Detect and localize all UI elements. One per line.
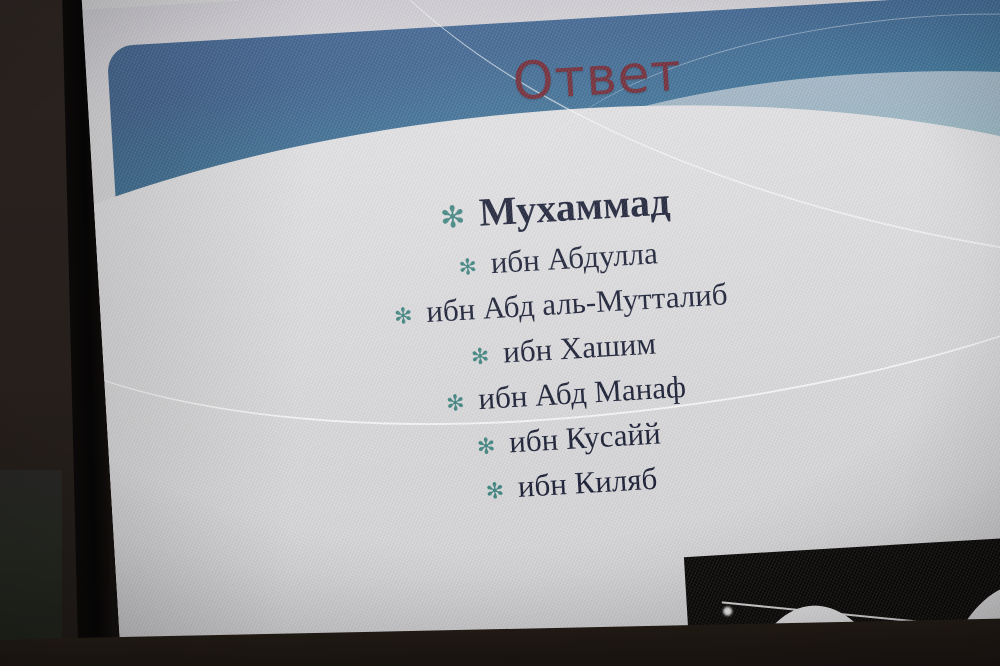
asterisk-bullet-icon: ✻	[476, 436, 496, 459]
asterisk-bullet-icon: ✻	[458, 257, 478, 280]
bullet-item-label: ибн Кусайй	[508, 415, 661, 460]
asterisk-bullet-icon: ✻	[446, 393, 466, 416]
projected-slide: Ответ ✻Мухаммад✻ибн Абдулла✻ибн Абд аль-…	[80, 0, 1000, 666]
bullet-item-label: Мухаммад	[478, 177, 672, 235]
asterisk-bullet-icon: ✻	[470, 346, 490, 369]
asterisk-bullet-icon: ✻	[485, 481, 505, 504]
picture-highlight-spark	[723, 606, 733, 616]
bullet-item-label: ибн Киляб	[517, 461, 658, 505]
bullet-item-label: ибн Абд Манаф	[477, 369, 687, 417]
room-wall-lower-left	[0, 470, 62, 666]
slide-bullet-list: ✻Мухаммад✻ибн Абдулла✻ибн Абд аль-Муттал…	[244, 166, 882, 529]
asterisk-bullet-icon: ✻	[393, 306, 413, 329]
bullet-item-label: ибн Абд аль-Мутталиб	[425, 276, 728, 330]
bullet-item-label: ибн Абдулла	[490, 235, 659, 281]
asterisk-bullet-icon: ✻	[439, 203, 466, 234]
projection-screen: Ответ ✻Мухаммад✻ибн Абдулла✻ибн Абд аль-…	[80, 0, 1000, 666]
bullet-item-label: ибн Хашим	[502, 326, 657, 371]
room-photograph: Ответ ✻Мухаммад✻ибн Абдулла✻ибн Абд аль-…	[0, 0, 1000, 666]
